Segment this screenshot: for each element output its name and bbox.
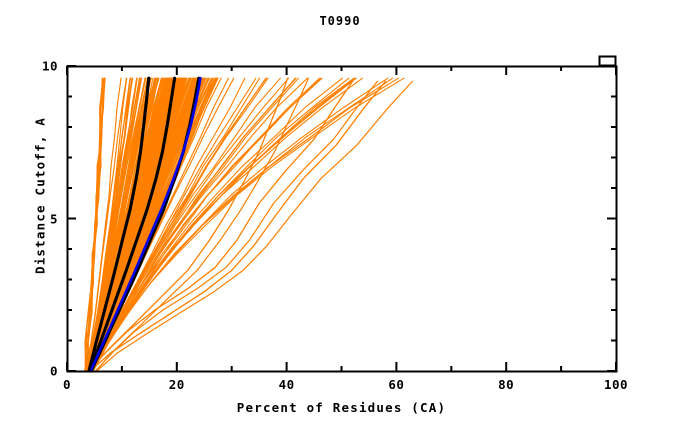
x-tick-label: 80 [498,377,514,392]
plot-area [0,0,680,440]
y-tick-label: 10 [22,59,58,74]
y-axis-label: Distance Cutoff, A [33,76,48,316]
x-axis-label: Percent of Residues (CA) [67,400,616,415]
frame-corner-notch [600,57,616,66]
y-tick-label: 0 [22,364,58,379]
x-tick-label: 20 [169,377,185,392]
x-tick-label: 40 [279,377,295,392]
chart-canvas: T0990 Distance Cutoff, A Percent of Resi… [0,0,680,440]
curves-layer [85,78,413,371]
x-tick-label: 0 [63,377,71,392]
y-tick-label: 5 [22,211,58,226]
x-tick-label: 100 [604,377,628,392]
x-tick-label: 60 [388,377,404,392]
